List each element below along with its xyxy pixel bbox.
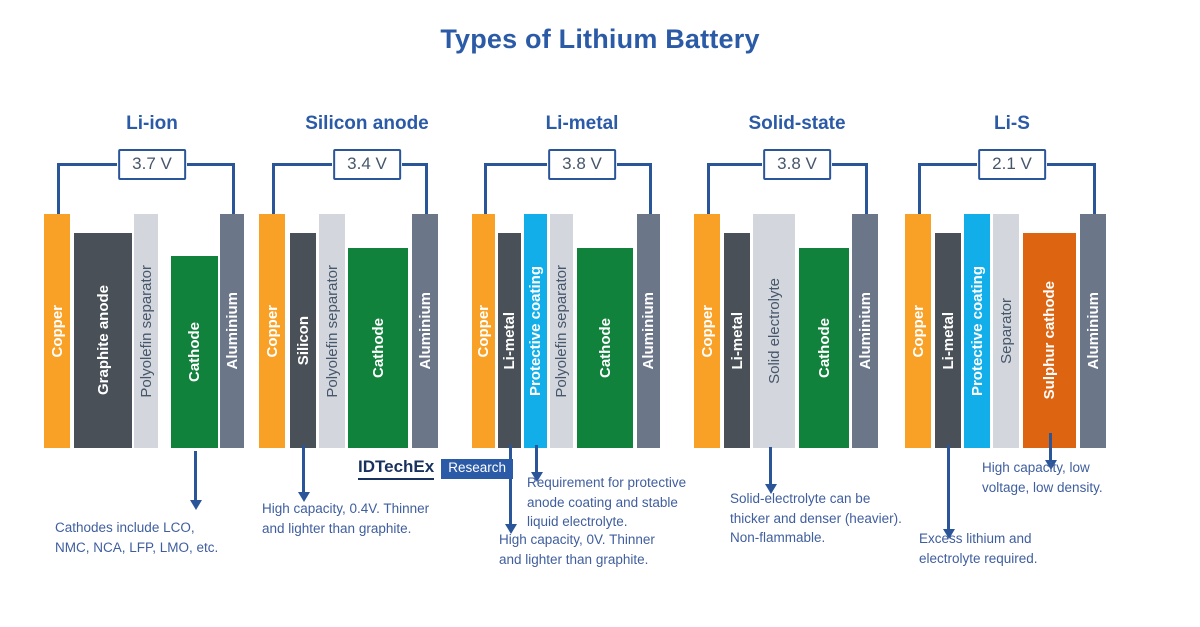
battery-layer-stack: CopperSiliconPolyolefin separatorCathode… xyxy=(252,213,482,448)
battery-layer-label: Protective coating xyxy=(528,266,543,396)
voltage-circuit: 3.8 V xyxy=(682,149,912,214)
battery-layer-aluminium: Aluminium xyxy=(1080,214,1106,448)
wire-left-horizontal xyxy=(918,163,977,166)
battery-layer-cathode: Cathode xyxy=(348,248,408,448)
wire-right-vertical xyxy=(1093,163,1096,214)
battery-layer-aluminium: Aluminium xyxy=(220,214,244,448)
battery-layer-li-metal: Li-metal xyxy=(935,233,961,448)
battery-layer-li-metal: Li-metal xyxy=(724,233,750,448)
battery-layer-polyolefin-separator: Polyolefin separator xyxy=(134,214,158,448)
wire-left-horizontal xyxy=(707,163,762,166)
annotation-arrow xyxy=(769,447,772,485)
battery-layer-sulphur-cathode: Sulphur cathode xyxy=(1023,233,1076,448)
wire-right-vertical xyxy=(865,163,868,214)
voltage-label: 3.8 V xyxy=(548,149,616,180)
wire-left-horizontal xyxy=(57,163,117,166)
battery-layer-label: Silicon xyxy=(296,316,311,365)
battery-layer-label: Aluminium xyxy=(641,292,656,370)
annotation-arrow xyxy=(509,445,512,525)
battery-layer-label: Copper xyxy=(50,305,65,358)
battery-layer-solid-electrolyte: Solid electrolyte xyxy=(753,214,795,448)
battery-layer-label: Polyolefin separator xyxy=(554,265,569,398)
wire-right-vertical xyxy=(425,163,428,214)
annotation-arrow xyxy=(947,445,950,530)
battery-layer-label: Cathode xyxy=(598,318,613,378)
battery-layer-label: Sulphur cathode xyxy=(1042,281,1057,399)
battery-type-title: Li-metal xyxy=(467,113,697,135)
voltage-label: 3.4 V xyxy=(333,149,401,180)
battery-layer-copper: Copper xyxy=(905,214,931,448)
wire-left-vertical xyxy=(918,163,921,214)
annotation-caption: High capacity, 0.4V. Thinner and lighter… xyxy=(262,499,429,538)
voltage-label: 3.7 V xyxy=(118,149,186,180)
battery-type-title: Li-ion xyxy=(37,113,267,135)
battery-layer-aluminium: Aluminium xyxy=(637,214,660,448)
wire-right-horizontal xyxy=(617,163,649,166)
battery-type-title: Li-S xyxy=(897,113,1127,135)
battery-layer-aluminium: Aluminium xyxy=(412,214,438,448)
battery-layer-label: Li-metal xyxy=(502,312,517,370)
battery-layer-label: Protective coating xyxy=(970,266,985,396)
wire-right-vertical xyxy=(649,163,652,214)
battery-column-solid-state: Solid-state3.8 VCopperLi-metalSolid elec… xyxy=(682,105,912,605)
battery-type-title: Solid-state xyxy=(682,113,912,135)
battery-layer-label: Aluminium xyxy=(1086,292,1101,370)
battery-layer-polyolefin-separator: Polyolefin separator xyxy=(319,214,345,448)
battery-layer-label: Li-metal xyxy=(730,312,745,370)
annotation-caption: High capacity, 0V. Thinner and lighter t… xyxy=(499,530,655,569)
battery-layer-graphite-anode: Graphite anode xyxy=(74,233,132,448)
battery-layer-copper: Copper xyxy=(694,214,720,448)
battery-layer-label: Separator xyxy=(999,298,1014,364)
battery-layer-label: Cathode xyxy=(817,318,832,378)
wire-right-horizontal xyxy=(1047,163,1093,166)
battery-layer-silicon: Silicon xyxy=(290,233,316,448)
battery-layer-label: Li-metal xyxy=(941,312,956,370)
voltage-label: 2.1 V xyxy=(978,149,1046,180)
battery-layer-label: Copper xyxy=(265,305,280,358)
voltage-circuit: 3.4 V xyxy=(252,149,482,214)
wire-left-horizontal xyxy=(272,163,332,166)
battery-layer-label: Graphite anode xyxy=(96,285,111,395)
battery-layer-cathode: Cathode xyxy=(171,256,218,448)
battery-layer-label: Copper xyxy=(911,305,926,358)
battery-layer-protective-coating: Protective coating xyxy=(964,214,990,448)
idtechex-research-badge: Research xyxy=(441,459,513,479)
battery-layer-label: Cathode xyxy=(187,322,202,382)
battery-layer-protective-coating: Protective coating xyxy=(524,214,547,448)
annotation-arrow xyxy=(1049,433,1052,461)
battery-layer-cathode: Cathode xyxy=(577,248,633,448)
battery-layer-copper: Copper xyxy=(44,214,70,448)
annotation-arrow xyxy=(194,451,197,501)
battery-layer-stack: CopperLi-metalSolid electrolyteCathodeAl… xyxy=(682,213,912,448)
battery-layer-label: Cathode xyxy=(371,318,386,378)
battery-layer-label: Aluminium xyxy=(858,292,873,370)
annotation-caption: Excess lithium and electrolyte required. xyxy=(919,529,1038,568)
battery-layer-stack: CopperLi-metalProtective coatingPolyolef… xyxy=(467,213,697,448)
battery-layer-copper: Copper xyxy=(472,214,495,448)
battery-layer-label: Polyolefin separator xyxy=(325,265,340,398)
battery-layer-cathode: Cathode xyxy=(799,248,849,448)
battery-column-li-ion: Li-ion3.7 VCopperGraphite anodePolyolefi… xyxy=(37,105,267,605)
battery-layer-stack: CopperGraphite anodePolyolefin separator… xyxy=(37,213,267,448)
voltage-circuit: 3.7 V xyxy=(37,149,267,214)
wire-left-vertical xyxy=(484,163,487,214)
battery-layer-label: Polyolefin separator xyxy=(139,265,154,398)
battery-column-li-metal: Li-metal3.8 VCopperLi-metalProtective co… xyxy=(467,105,697,605)
battery-layer-copper: Copper xyxy=(259,214,285,448)
wire-right-vertical xyxy=(232,163,235,214)
battery-layer-label: Aluminium xyxy=(418,292,433,370)
battery-layer-stack: CopperLi-metalProtective coatingSeparato… xyxy=(897,213,1127,448)
battery-column-silicon-anode: Silicon anode3.4 VCopperSiliconPolyolefi… xyxy=(252,105,482,605)
battery-layer-label: Copper xyxy=(700,305,715,358)
wire-left-vertical xyxy=(707,163,710,214)
annotation-caption: Solid-electrolyte can be thicker and den… xyxy=(730,489,902,548)
battery-layer-aluminium: Aluminium xyxy=(852,214,878,448)
voltage-label: 3.8 V xyxy=(763,149,831,180)
battery-layer-li-metal: Li-metal xyxy=(498,233,521,448)
wire-left-vertical xyxy=(57,163,60,214)
wire-right-horizontal xyxy=(832,163,865,166)
wire-right-horizontal xyxy=(402,163,425,166)
battery-layer-polyolefin-separator: Polyolefin separator xyxy=(550,214,573,448)
annotation-caption: Cathodes include LCO, NMC, NCA, LFP, LMO… xyxy=(55,518,218,557)
idtechex-logo: IDTechEx Research xyxy=(358,458,513,480)
wire-left-horizontal xyxy=(484,163,548,166)
wire-left-vertical xyxy=(272,163,275,214)
voltage-circuit: 2.1 V xyxy=(897,149,1127,214)
battery-layer-label: Aluminium xyxy=(225,292,240,370)
battery-type-title: Silicon anode xyxy=(252,113,482,135)
voltage-circuit: 3.8 V xyxy=(467,149,697,214)
annotation-arrow xyxy=(302,445,305,493)
battery-layer-label: Copper xyxy=(476,305,491,358)
annotation-arrow xyxy=(535,445,538,473)
annotation-caption: High capacity, low voltage, low density. xyxy=(982,458,1103,497)
battery-layer-separator: Separator xyxy=(993,214,1019,448)
battery-layer-label: Solid electrolyte xyxy=(767,278,782,384)
wire-right-horizontal xyxy=(187,163,232,166)
battery-column-li-s: Li-S2.1 VCopperLi-metalProtective coatin… xyxy=(897,105,1127,605)
page-title: Types of Lithium Battery xyxy=(0,24,1200,55)
idtechex-brand-name: IDTechEx xyxy=(358,458,434,480)
annotation-caption: Requirement for protective anode coating… xyxy=(527,473,686,532)
